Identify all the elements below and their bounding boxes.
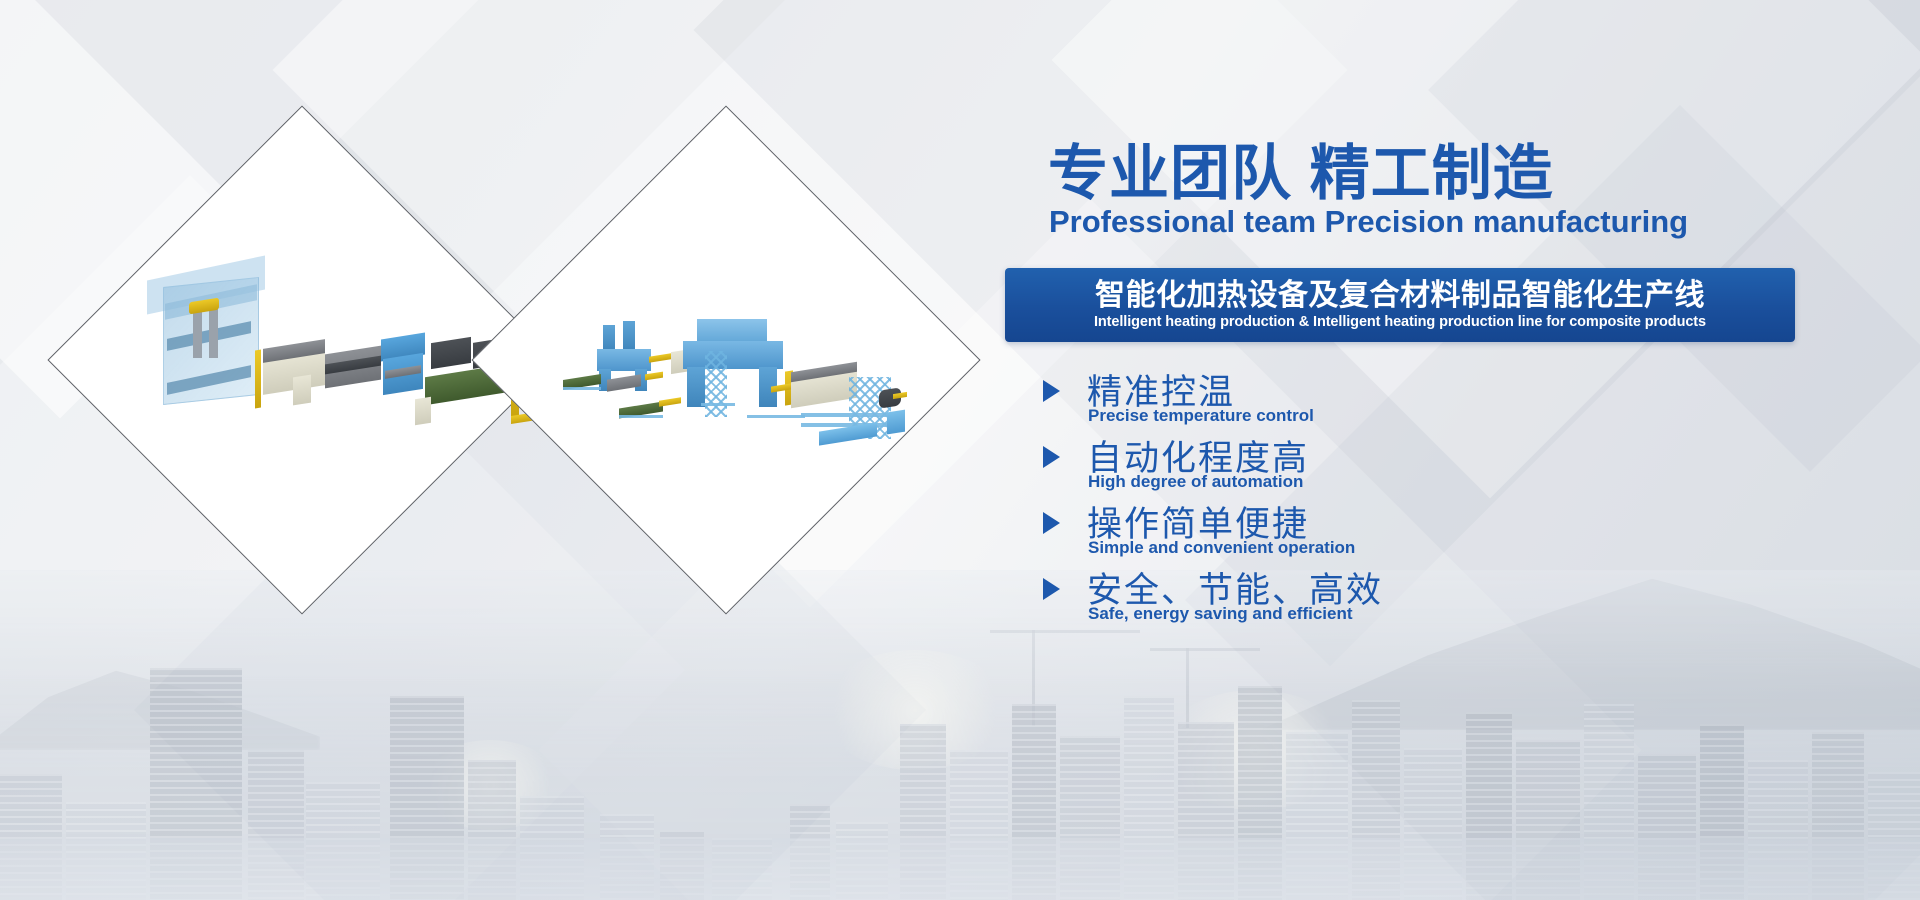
diamond-photo-1-inner [123, 181, 481, 539]
machine-illustration-2 [587, 315, 887, 465]
robot-arm-2 [645, 372, 663, 381]
page-subtitle: Professional team Precision manufacturin… [1049, 204, 1688, 240]
highlight-banner: 智能化加热设备及复合材料制品智能化生产线 Intelligent heating… [1005, 268, 1795, 342]
diamond-photo-production-line-2[interactable] [471, 105, 980, 614]
press-a-column-1 [603, 325, 615, 351]
end-unit [887, 410, 905, 435]
triangle-right-icon [1043, 446, 1060, 468]
stair-lattice [705, 351, 727, 417]
triangle-right-icon [1043, 578, 1060, 600]
robot-arm-1 [649, 353, 671, 362]
piston-rod-1 [193, 308, 202, 358]
frame-post-yellow [255, 350, 261, 409]
triangle-right-icon [1043, 512, 1060, 534]
press-b-leg-1 [687, 367, 705, 407]
highlight-title-en: Intelligent heating production & Intelli… [1094, 314, 1706, 330]
machine-illustration-1 [159, 314, 459, 454]
press-a-column-2 [623, 321, 635, 351]
feature-label-en: High degree of automation [1088, 472, 1303, 492]
page-title: 专业团队 精工制造 [1048, 143, 1554, 204]
feature-label-en: Precise temperature control [1088, 406, 1314, 426]
feature-label-en: Simple and convenient operation [1088, 538, 1355, 558]
stair-rail [701, 403, 735, 406]
infeed-rail-1 [563, 387, 601, 390]
piston-rod-2 [209, 308, 218, 358]
control-cabinet-2 [415, 397, 431, 426]
promo-banner: 专业团队 精工制造 Professional team Precision ma… [0, 0, 1920, 900]
gantry-rail-1 [801, 413, 897, 417]
triangle-right-icon [1043, 380, 1060, 402]
highlight-title-cn: 智能化加热设备及复合材料制品智能化生产线 [1095, 280, 1705, 312]
cooling-unit-1 [431, 337, 471, 369]
gantry-rail-3 [747, 415, 805, 418]
press-a-body [597, 349, 651, 371]
feature-label-en: Safe, energy saving and efficient [1088, 604, 1353, 624]
robot-arm-3 [659, 397, 681, 406]
control-cabinet-1 [293, 375, 311, 406]
press-b-crossbeam [683, 341, 783, 369]
diamond-photo-2-inner [547, 181, 905, 539]
banner-content: 专业团队 精工制造 Professional team Precision ma… [1005, 0, 1920, 900]
infeed-rail-2 [619, 415, 663, 418]
